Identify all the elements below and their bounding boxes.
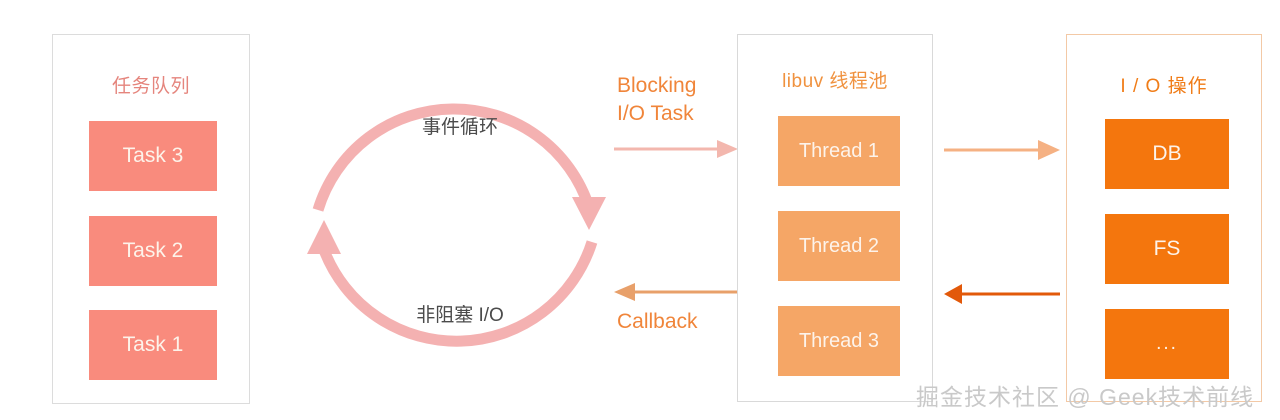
libuv-panel-title: libuv 线程池 [738, 66, 932, 93]
event-loop-bottom-label: 非阻塞 I/O [300, 300, 620, 327]
event-loop-circle: 事件循环 非阻塞 I/O [300, 62, 620, 382]
task-queue-title: 任务队列 [53, 71, 249, 98]
blocking-io-arrow-right-icon [612, 132, 740, 166]
io-dispatch-arrow-right-icon [942, 134, 1062, 166]
io-return-arrow-left-icon [942, 278, 1062, 310]
blocking-io-task-label-line1: Blocking [617, 72, 696, 100]
io-box-more: ... [1105, 309, 1229, 379]
event-loop-arc-icon [300, 62, 620, 382]
io-box-db: DB [1105, 119, 1229, 189]
thread-box-label: Thread 1 [799, 140, 879, 163]
thread-box-1: Thread 1 [778, 116, 900, 186]
io-panel-title: I / O 操作 [1067, 71, 1261, 98]
thread-box-3: Thread 3 [778, 306, 900, 376]
io-operations-panel: I / O 操作 DB FS ... [1066, 34, 1262, 402]
task-box-1: Task 1 [89, 310, 217, 380]
libuv-thread-pool-panel: libuv 线程池 Thread 1 Thread 2 Thread 3 [737, 34, 933, 402]
task-box-label: Task 1 [123, 333, 184, 357]
io-box-label: ... [1156, 333, 1178, 355]
thread-box-label: Thread 2 [799, 235, 879, 258]
io-box-fs: FS [1105, 214, 1229, 284]
io-box-label: DB [1152, 142, 1181, 166]
io-box-label: FS [1154, 237, 1181, 261]
thread-box-2: Thread 2 [778, 211, 900, 281]
thread-box-label: Thread 3 [799, 330, 879, 353]
task-box-label: Task 3 [123, 144, 184, 168]
callback-arrow-left-icon [612, 275, 740, 309]
watermark-text: 掘金技术社区 @ Geek技术前线 [916, 378, 1254, 412]
task-box-label: Task 2 [123, 239, 184, 263]
task-box-2: Task 2 [89, 216, 217, 286]
blocking-io-task-label: Blocking I/O Task [617, 72, 696, 128]
blocking-io-task-label-line2: I/O Task [617, 100, 696, 128]
diagram-canvas: 任务队列 Task 3 Task 2 Task 1 事件循环 非阻塞 I/O B… [0, 0, 1280, 420]
task-queue-panel: 任务队列 Task 3 Task 2 Task 1 [52, 34, 250, 404]
event-loop-top-label: 事件循环 [300, 112, 620, 139]
task-box-3: Task 3 [89, 121, 217, 191]
callback-label: Callback [617, 308, 698, 336]
